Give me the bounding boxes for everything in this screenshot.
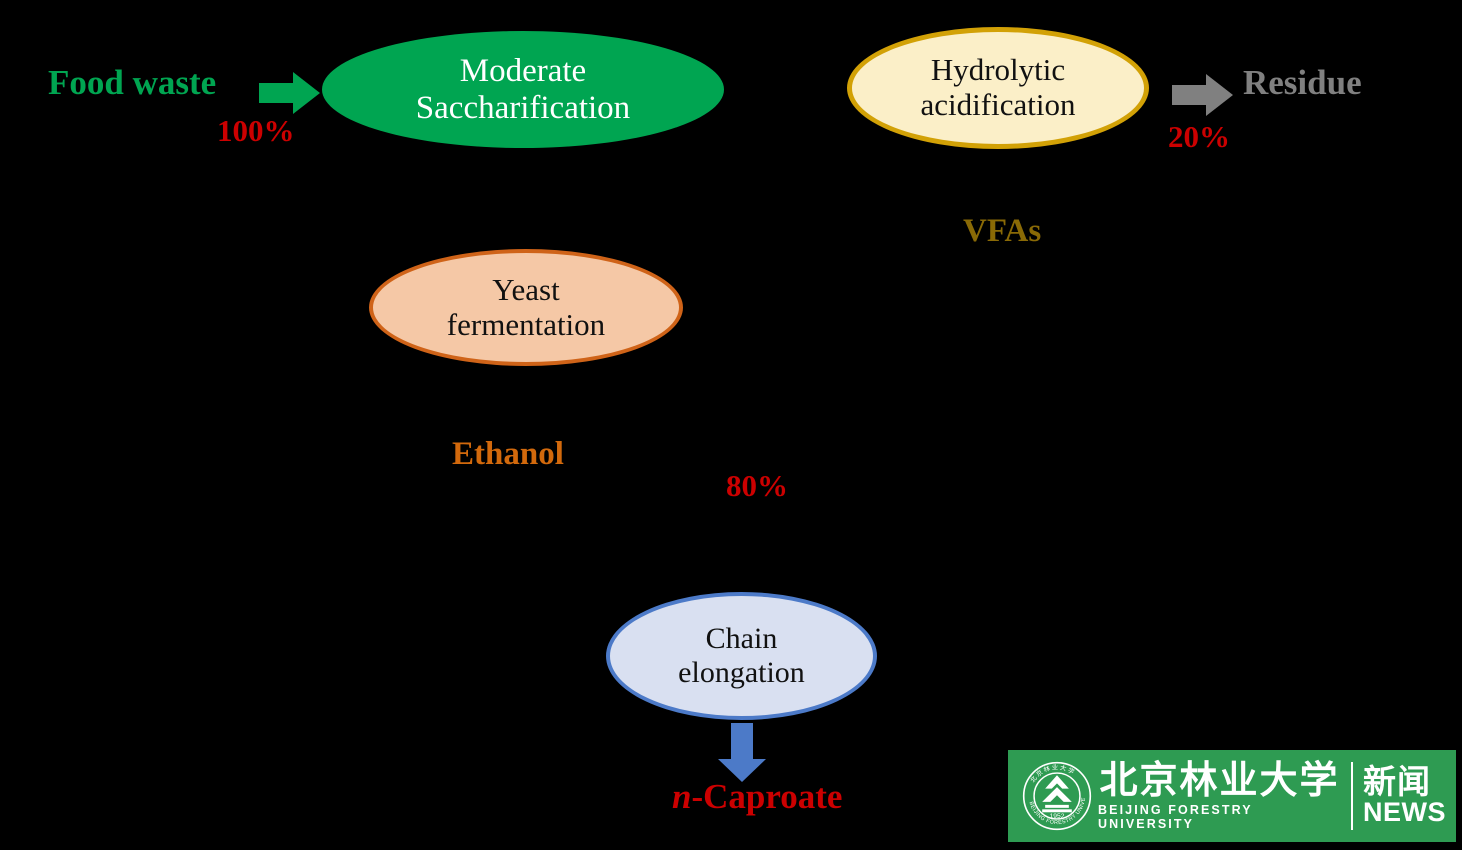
n-caproate-rest: -Caproate — [691, 777, 842, 816]
bfu-english-name: BEIJING FORESTRY UNIVERSITY — [1098, 803, 1341, 831]
ethanol-label: Ethanol — [452, 436, 564, 473]
yield-20-percent-label: 20% — [1168, 119, 1230, 155]
vfas-label: VFAs — [963, 213, 1041, 250]
residue-arrow-icon — [1172, 72, 1234, 118]
bfu-news-block: 新闻 NEWS — [1363, 765, 1446, 826]
node-hydrolytic-acidification-label: Hydrolytic acidification — [921, 53, 1076, 122]
n-caproate-label: n-Caproate — [672, 777, 842, 817]
yield-100-percent-label: 100% — [217, 113, 295, 149]
news-chinese-label: 新闻 — [1363, 765, 1431, 798]
bfu-wordmark: 北京林业大学 BEIJING FORESTRY UNIVERSITY — [1094, 761, 1341, 832]
bfu-chinese-name: 北京林业大学 — [1099, 761, 1339, 801]
bfu-seal-icon: 1952 北京林业大学 BEIJING FORESTRY UNIVERSITY — [1020, 759, 1094, 833]
diagram-canvas: Food waste 100% Moderate Saccharificatio… — [0, 0, 1462, 850]
food-waste-label: Food waste — [48, 63, 216, 103]
svg-text:1952: 1952 — [1050, 813, 1065, 820]
node-chain-elongation[interactable]: Chain elongation — [606, 592, 877, 720]
caproate-arrow-icon — [716, 723, 768, 783]
bfu-news-logo: 1952 北京林业大学 BEIJING FORESTRY UNIVERSITY … — [1008, 750, 1456, 842]
node-hydrolytic-acidification[interactable]: Hydrolytic acidification — [847, 27, 1149, 149]
logo-divider — [1351, 762, 1353, 830]
residue-label: Residue — [1243, 63, 1362, 103]
news-english-label: NEWS — [1363, 798, 1446, 826]
node-moderate-saccharification-label: Moderate Saccharification — [416, 53, 630, 127]
food-waste-arrow-icon — [259, 70, 321, 116]
yield-80-percent-label: 80% — [726, 468, 788, 504]
node-chain-elongation-label: Chain elongation — [678, 622, 805, 689]
node-yeast-fermentation-label: Yeast fermentation — [447, 273, 605, 342]
n-caproate-prefix: n — [672, 777, 691, 816]
node-yeast-fermentation[interactable]: Yeast fermentation — [369, 249, 683, 366]
node-moderate-saccharification[interactable]: Moderate Saccharification — [322, 31, 724, 148]
